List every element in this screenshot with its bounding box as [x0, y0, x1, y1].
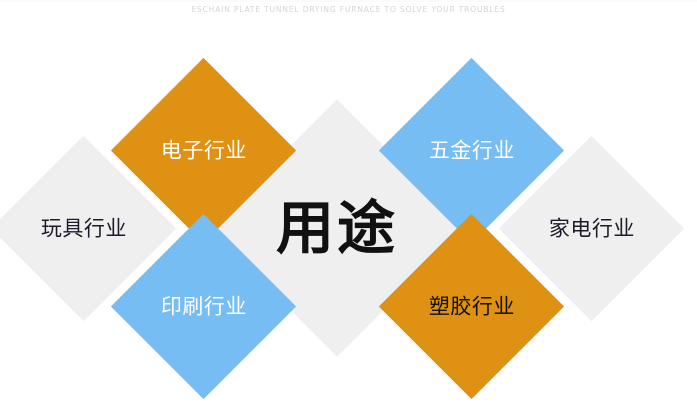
- center-diamond-label: 用途: [276, 198, 398, 258]
- diamond-plastic-label: 塑胶行业: [429, 296, 515, 317]
- diamond-electronics-label: 电子行业: [161, 140, 247, 161]
- header-tagline: ESCHAIN PLATE TUNNEL DRYING FURNACE TO S…: [0, 4, 697, 15]
- diamond-hardware-label: 五金行业: [429, 140, 515, 161]
- diamond-toys-label: 玩具行业: [40, 218, 126, 239]
- slide-canvas: ESCHAIN PLATE TUNNEL DRYING FURNACE TO S…: [0, 0, 697, 414]
- diamond-home-appliance-label: 家电行业: [549, 218, 635, 239]
- top-divider: [0, 0, 697, 2]
- diamond-printing-label: 印刷行业: [161, 296, 247, 317]
